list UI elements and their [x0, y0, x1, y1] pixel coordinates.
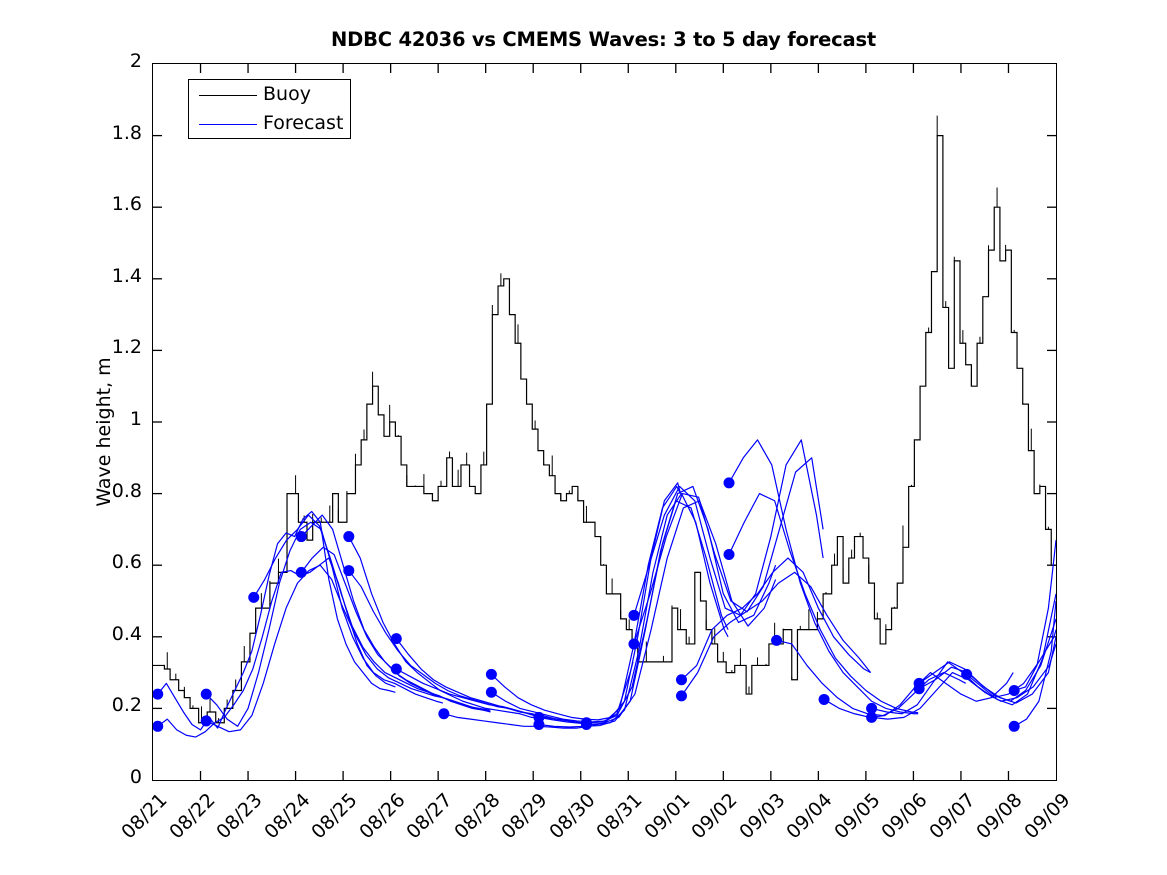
y-tick-label: 0.2 — [82, 694, 142, 716]
forecast-line — [586, 486, 775, 722]
y-tick-label: 1.2 — [82, 336, 142, 358]
forecast-start-marker — [343, 565, 354, 576]
forecast-start-marker — [201, 689, 212, 700]
legend-label: Buoy — [263, 83, 311, 105]
forecast-start-marker — [676, 674, 687, 685]
forecast-line — [301, 547, 490, 712]
series-buoy — [153, 116, 1056, 723]
forecast-line — [254, 515, 491, 712]
legend-label: Forecast — [263, 112, 343, 134]
y-tick-label: 1.8 — [82, 122, 142, 144]
x-tick-label: 08/21 — [109, 789, 171, 851]
forecast-start-marker — [771, 635, 782, 646]
forecast-start-marker — [1009, 685, 1020, 696]
forecast-line — [206, 565, 443, 731]
forecast-line — [539, 494, 728, 725]
forecast-start-marker — [201, 715, 212, 726]
forecast-start-marker — [248, 592, 259, 603]
page-title: NDBC 42036 vs CMEMS Waves: 3 to 5 day fo… — [152, 28, 1055, 51]
forecast-start-marker — [153, 689, 163, 700]
y-tick-label: 0 — [82, 766, 142, 788]
buoy-spikes — [159, 116, 1049, 723]
plot-area — [152, 63, 1057, 781]
y-tick-label: 1 — [82, 408, 142, 430]
legend: BuoyForecast — [188, 79, 351, 139]
legend-entry[interactable]: Forecast — [189, 110, 350, 140]
legend-line-swatch — [199, 95, 257, 96]
buoy-line — [153, 136, 1056, 723]
y-tick-label: 0.6 — [82, 551, 142, 573]
y-tick-label: 0.4 — [82, 623, 142, 645]
forecast-start-marker — [296, 531, 307, 542]
y-tick-label: 0.8 — [82, 480, 142, 502]
forecast-start-marker — [676, 690, 687, 701]
forecast-start-marker — [819, 694, 830, 705]
forecast-start-marker — [533, 719, 544, 730]
y-tick-label: 1.6 — [82, 193, 142, 215]
forecast-start-marker — [628, 638, 639, 649]
y-axis-label: Wave height, m — [93, 74, 115, 790]
forecast-line — [349, 571, 538, 718]
forecast-start-marker — [961, 669, 972, 680]
forecast-start-marker — [438, 708, 449, 719]
forecast-start-marker — [153, 721, 163, 732]
forecast-start-marker — [914, 683, 925, 694]
forecast-start-marker — [1009, 721, 1020, 732]
forecast-start-marker — [486, 669, 497, 680]
forecast-start-marker — [391, 664, 402, 675]
forecast-start-marker — [343, 531, 354, 542]
y-tick-label: 1.4 — [82, 265, 142, 287]
legend-entry[interactable]: Buoy — [189, 81, 350, 111]
forecast-start-marker — [724, 549, 735, 560]
forecast-start-marker — [724, 477, 735, 488]
forecast-start-marker — [628, 610, 639, 621]
forecast-start-marker — [581, 719, 592, 730]
forecast-line — [396, 639, 585, 723]
x-tick-label: 09/09 — [1012, 789, 1074, 851]
y-tick-label: 2 — [82, 50, 142, 72]
forecast-line — [681, 558, 870, 680]
forecast-start-marker — [866, 712, 877, 723]
plot-svg — [153, 64, 1056, 780]
figure-canvas: NDBC 42036 vs CMEMS Waves: 3 to 5 day fo… — [0, 0, 1167, 875]
forecast-start-marker — [486, 687, 497, 698]
legend-line-swatch — [199, 124, 257, 125]
forecast-start-marker — [296, 567, 307, 578]
forecast-start-marker — [391, 633, 402, 644]
forecast-line — [729, 440, 918, 714]
